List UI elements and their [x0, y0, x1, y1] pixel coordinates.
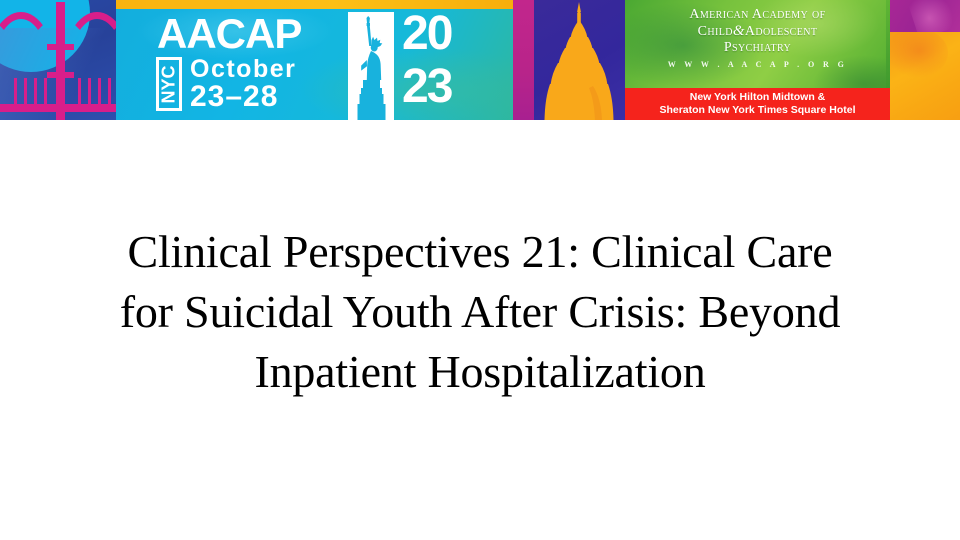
statue-of-liberty-badge [348, 12, 394, 120]
organization-logo-text: American Academy of Child&Adolescent Psy… [625, 7, 890, 56]
banner-panel-conference: AACAP NYC October 23–28 [116, 9, 513, 120]
slide-title-line-1: Clinical Perspectives 21: Clinical Care [42, 222, 918, 282]
venue-band: New York Hilton Midtown & Sheraton New Y… [625, 88, 890, 120]
banner-panel-right-magenta [890, 0, 960, 32]
banner-panel-magenta-strip [513, 0, 534, 120]
organization-line-2: Child&Adolescent [625, 23, 890, 40]
bridge-deck-icon [0, 104, 116, 112]
aacap-conference-banner: AACAP NYC October 23–28 [0, 0, 960, 120]
slide-title-line-2: for Suicidal Youth After Crisis: Beyond [42, 282, 918, 342]
conference-year-bottom: 23 [402, 63, 451, 111]
orange-blob-decoration [890, 32, 948, 78]
bridge-tower-icon [56, 2, 65, 120]
conference-dates-label: 23–28 [190, 82, 278, 112]
organization-line-2-adolescent: Adolescent [745, 24, 817, 39]
organization-line-1: American Academy of [625, 7, 890, 23]
statue-of-liberty-icon [352, 16, 390, 120]
banner-panel-bridge [0, 0, 116, 120]
nyc-badge: NYC [156, 57, 182, 111]
conference-month-label: October [190, 56, 296, 82]
banner-panel-right-orange [890, 32, 960, 120]
banner-top-accent-strip [116, 0, 513, 9]
organization-website-label: W W W . A A C A P . O R G [625, 60, 890, 69]
slide-title: Clinical Perspectives 21: Clinical Care … [42, 222, 918, 401]
nyc-badge-label: NYC [159, 65, 180, 103]
conference-year-top: 20 [402, 10, 451, 58]
magenta-swoosh-decoration [906, 0, 957, 32]
venue-line-1: New York Hilton Midtown & [659, 91, 855, 104]
slide-title-line-3: Inpatient Hospitalization [42, 342, 918, 402]
aacap-wordmark: AACAP [157, 13, 301, 55]
banner-panel-tower [534, 0, 625, 120]
golden-tower-icon [541, 0, 619, 120]
ampersand-glyph: & [733, 23, 745, 39]
organization-line-2-child: Child [698, 24, 733, 39]
venue-line-2: Sheraton New York Times Square Hotel [659, 104, 855, 117]
organization-line-3: Psychiatry [625, 40, 890, 56]
slide-canvas: AACAP NYC October 23–28 [0, 0, 960, 540]
venue-band-text: New York Hilton Midtown & Sheraton New Y… [659, 91, 855, 117]
